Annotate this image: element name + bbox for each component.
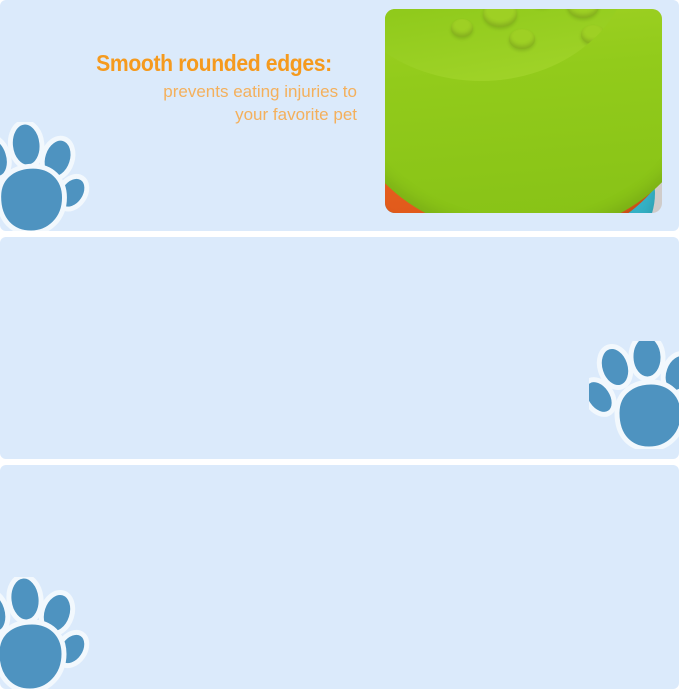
feature-body-line: prevents eating injuries to — [42, 81, 357, 103]
product-feature-infographic: Smooth rounded edges: prevents eating in… — [0, 0, 679, 689]
feature-panel-detachable-assembly: Detachable assembly: Convenient for you … — [0, 465, 679, 689]
bowl-interior-green — [385, 9, 631, 81]
paw-print-icon — [0, 577, 90, 689]
paw-print-icon — [0, 122, 90, 231]
feature-panel-non-slip-bottom-design: Non-slip bottom design: rubberized non-s… — [0, 237, 679, 459]
stacked-bowl-rims-photo — [385, 9, 662, 213]
bowl-rim-green — [385, 9, 662, 213]
feature-panel-smooth-rounded-edges: Smooth rounded edges: prevents eating in… — [0, 0, 679, 231]
feature-body-line: your favorite pet — [42, 104, 357, 126]
feature-text-block: Smooth rounded edges: prevents eating in… — [42, 50, 357, 126]
feature-headline: Smooth rounded edges: — [42, 50, 332, 76]
paw-print-icon — [589, 341, 679, 449]
